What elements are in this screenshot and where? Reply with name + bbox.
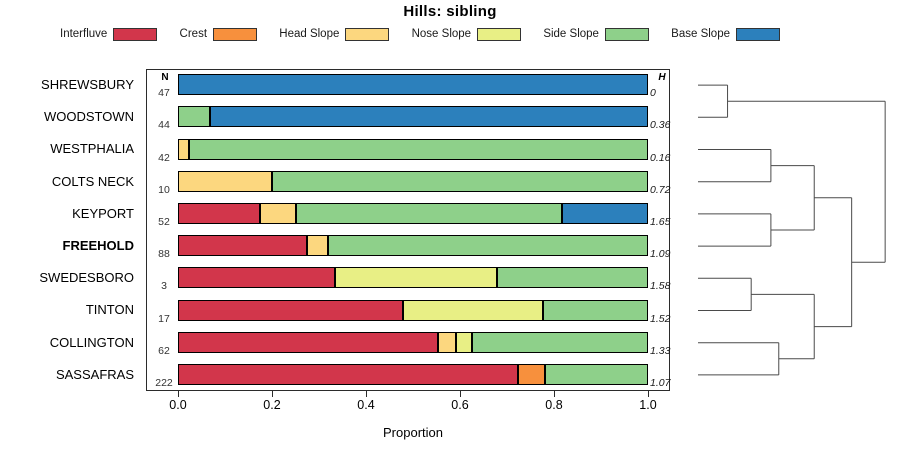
legend-color-swatch	[477, 28, 521, 41]
legend-item-label: Side Slope	[543, 28, 599, 40]
stacked-bars	[178, 69, 648, 391]
legend-item-label: Head Slope	[279, 28, 339, 40]
bar-segment-interfluve[interactable]	[178, 364, 518, 385]
chart-title: Hills: sibling	[0, 3, 900, 20]
legend-item-label: Base Slope	[671, 28, 730, 40]
category-label-freehold: FREEHOLD	[63, 230, 135, 262]
bar-segment-side-slope[interactable]	[472, 332, 648, 353]
n-value: 62	[150, 345, 178, 357]
bar-segment-nose-slope[interactable]	[335, 267, 497, 288]
h-value: 1.58	[650, 280, 686, 292]
legend-item-interfluve[interactable]: Interfluve	[60, 28, 157, 41]
x-axis-tick-label: 0.4	[346, 398, 386, 412]
bar-row	[178, 171, 648, 192]
category-label-sassafras: SASSAFRAS	[56, 359, 134, 391]
chart-legend: InterfluveCrestHead SlopeNose SlopeSide …	[60, 24, 780, 44]
legend-color-swatch	[736, 28, 780, 41]
bar-segment-side-slope[interactable]	[545, 364, 648, 385]
legend-color-swatch	[345, 28, 389, 41]
h-value: 1.33	[650, 345, 686, 357]
legend-item-base-slope[interactable]: Base Slope	[671, 28, 780, 41]
bar-segment-crest[interactable]	[518, 364, 545, 385]
x-axis-tick	[272, 391, 273, 397]
h-value: 0.16	[650, 152, 686, 164]
chart-canvas: Hills: sibling InterfluveCrestHead Slope…	[0, 0, 900, 460]
x-axis: 0.00.20.40.60.81.0	[178, 391, 648, 411]
legend-color-swatch	[113, 28, 157, 41]
n-value: 44	[150, 119, 178, 131]
legend-item-nose-slope[interactable]: Nose Slope	[412, 28, 521, 41]
bar-row	[178, 300, 648, 321]
bar-segment-interfluve[interactable]	[178, 300, 403, 321]
h-value: 1.52	[650, 313, 686, 325]
bar-segment-side-slope[interactable]	[328, 235, 648, 256]
x-axis-tick	[648, 391, 649, 397]
h-value: 0.72	[650, 184, 686, 196]
n-value: 10	[150, 184, 178, 196]
bar-segment-side-slope[interactable]	[543, 300, 648, 321]
bar-row	[178, 139, 648, 160]
bar-segment-side-slope[interactable]	[189, 139, 648, 160]
bar-row	[178, 203, 648, 224]
category-label-collington: COLLINGTON	[50, 327, 134, 359]
bar-segment-base-slope[interactable]	[178, 74, 648, 95]
legend-item-label: Interfluve	[60, 28, 107, 40]
bar-segment-interfluve[interactable]	[178, 267, 335, 288]
h-value: 0.36	[650, 119, 686, 131]
x-axis-tick	[178, 391, 179, 397]
n-value: 47	[150, 87, 178, 99]
category-label-colts-neck: COLTS NECK	[52, 166, 134, 198]
bar-row	[178, 364, 648, 385]
bar-segment-head-slope[interactable]	[178, 171, 272, 192]
bar-segment-side-slope[interactable]	[178, 106, 210, 127]
legend-item-label: Nose Slope	[412, 28, 471, 40]
x-axis-title: Proportion	[178, 425, 648, 440]
category-label-keyport: KEYPORT	[72, 198, 134, 230]
category-axis-labels: SHREWSBURYWOODSTOWNWESTPHALIACOLTS NECKK…	[0, 69, 140, 391]
category-label-shrewsbury: SHREWSBURY	[41, 69, 134, 101]
h-value: 1.65	[650, 216, 686, 228]
x-axis-tick	[554, 391, 555, 397]
n-value: 17	[150, 313, 178, 325]
bar-segment-interfluve[interactable]	[178, 235, 307, 256]
category-label-swedesboro: SWEDESBORO	[39, 262, 134, 294]
legend-item-label: Crest	[180, 28, 207, 40]
bar-segment-head-slope[interactable]	[260, 203, 295, 224]
legend-color-swatch	[605, 28, 649, 41]
h-value: 0	[650, 87, 686, 99]
bar-segment-base-slope[interactable]	[210, 106, 648, 127]
bar-row	[178, 74, 648, 95]
bar-row	[178, 106, 648, 127]
bar-segment-base-slope[interactable]	[562, 203, 648, 224]
x-axis-tick	[460, 391, 461, 397]
legend-color-swatch	[213, 28, 257, 41]
bar-row	[178, 332, 648, 353]
bar-segment-head-slope[interactable]	[307, 235, 328, 256]
dendrogram	[690, 69, 900, 391]
legend-item-crest[interactable]: Crest	[180, 28, 257, 41]
bar-segment-nose-slope[interactable]	[403, 300, 543, 321]
n-value: 88	[150, 248, 178, 260]
category-label-woodstown: WOODSTOWN	[44, 101, 134, 133]
h-value: 1.07	[650, 377, 686, 389]
legend-item-head-slope[interactable]: Head Slope	[279, 28, 389, 41]
h-value: 1.09	[650, 248, 686, 260]
n-value: 52	[150, 216, 178, 228]
x-axis-tick-label: 0.8	[534, 398, 574, 412]
bar-segment-nose-slope[interactable]	[456, 332, 472, 353]
category-label-westphalia: WESTPHALIA	[50, 133, 134, 165]
bar-segment-side-slope[interactable]	[296, 203, 562, 224]
legend-item-side-slope[interactable]: Side Slope	[543, 28, 649, 41]
x-axis-tick-label: 0.2	[252, 398, 292, 412]
n-value: 42	[150, 152, 178, 164]
n-value: 3	[150, 280, 178, 292]
bar-segment-interfluve[interactable]	[178, 203, 260, 224]
x-axis-tick-label: 1.0	[628, 398, 668, 412]
bar-row	[178, 267, 648, 288]
h-column: 00.360.160.721.651.091.581.521.331.07	[650, 69, 686, 391]
category-label-tinton: TINTON	[86, 294, 134, 326]
bar-segment-head-slope[interactable]	[438, 332, 456, 353]
bar-segment-head-slope[interactable]	[178, 139, 189, 160]
bar-segment-side-slope[interactable]	[272, 171, 648, 192]
n-column: 47444210528831762222	[150, 69, 178, 391]
bar-segment-interfluve[interactable]	[178, 332, 438, 353]
n-value: 222	[150, 377, 178, 389]
bar-segment-side-slope[interactable]	[497, 267, 648, 288]
x-axis-tick-label: 0.6	[440, 398, 480, 412]
bar-row	[178, 235, 648, 256]
x-axis-tick-label: 0.0	[158, 398, 198, 412]
x-axis-tick	[366, 391, 367, 397]
